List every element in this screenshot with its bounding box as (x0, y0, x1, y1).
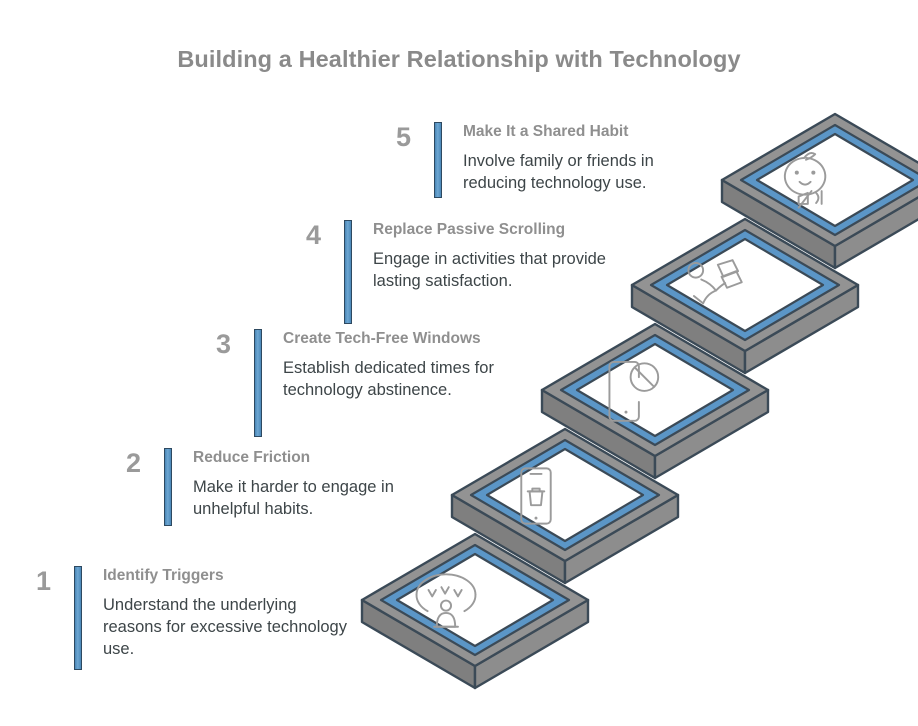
step-heading-1: Identify Triggers (103, 566, 351, 585)
step-description-1: Understand the underlying reasons for ex… (103, 595, 351, 660)
accent-bar-4 (344, 220, 352, 324)
step-number-5: 5 (377, 122, 411, 151)
step-block-5[interactable]: 5 Make It a Shared Habit Involve family … (377, 122, 707, 198)
step-text-1: Identify Triggers Understand the underly… (103, 566, 351, 661)
step-heading-5: Make It a Shared Habit (463, 122, 707, 141)
accent-bar-5 (434, 122, 442, 198)
step-number-2: 2 (107, 448, 141, 477)
infographic-canvas: Building a Healthier Relationship with T… (0, 0, 918, 726)
step-block-3[interactable]: 3 Create Tech-Free Windows Establish ded… (197, 329, 527, 437)
step-block-1[interactable]: 1 Identify Triggers Understand the under… (17, 566, 351, 670)
step-number-4: 4 (287, 220, 321, 249)
step-description-4: Engage in activities that provide lastin… (373, 249, 617, 293)
step-block-4[interactable]: 4 Replace Passive Scrolling Engage in ac… (287, 220, 617, 324)
accent-bar-1 (74, 566, 82, 670)
step-block-2[interactable]: 2 Reduce Friction Make it harder to enga… (107, 448, 437, 526)
step-heading-3: Create Tech-Free Windows (283, 329, 527, 348)
step-number-3: 3 (197, 329, 231, 358)
accent-bar-2 (164, 448, 172, 526)
step-description-5: Involve family or friends in reducing te… (463, 151, 707, 195)
step-description-3: Establish dedicated times for technology… (283, 358, 527, 402)
step-text-2: Reduce Friction Make it harder to engage… (193, 448, 437, 521)
step-heading-2: Reduce Friction (193, 448, 437, 467)
step-heading-4: Replace Passive Scrolling (373, 220, 617, 239)
step-description-2: Make it harder to engage in unhelpful ha… (193, 477, 437, 521)
step-text-5: Make It a Shared Habit Involve family or… (463, 122, 707, 195)
accent-bar-3 (254, 329, 262, 437)
step-text-3: Create Tech-Free Windows Establish dedic… (283, 329, 527, 402)
step-number-1: 1 (17, 566, 51, 595)
step-text-4: Replace Passive Scrolling Engage in acti… (373, 220, 617, 293)
